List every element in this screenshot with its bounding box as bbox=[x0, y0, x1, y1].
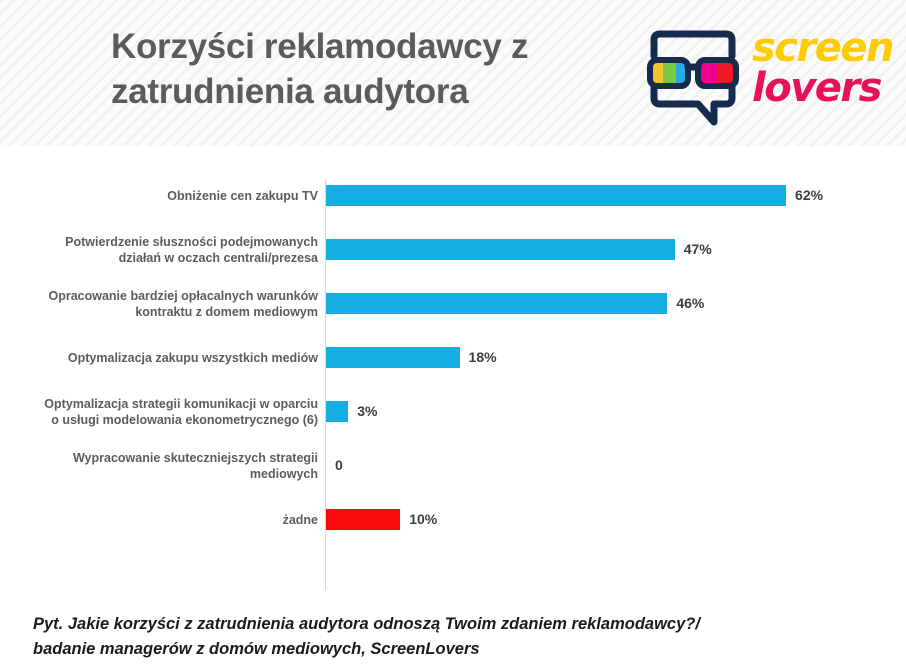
category-label: Optymalizacja zakupu wszystkich mediów bbox=[0, 350, 318, 366]
chart-row: żadne10% bbox=[0, 492, 906, 546]
bar-value-label: 18% bbox=[469, 347, 497, 368]
bar-value-label: 3% bbox=[357, 401, 377, 422]
plot-area: Obniżenie cen zakupu TV62%Potwierdzenie … bbox=[0, 146, 906, 601]
bar-value-label: 0 bbox=[335, 455, 343, 476]
logo-word-screen: screen bbox=[752, 28, 893, 68]
category-label: żadne bbox=[0, 512, 318, 528]
chart-row: Obniżenie cen zakupu TV62% bbox=[0, 168, 906, 222]
bar-value-label: 46% bbox=[676, 293, 704, 314]
header-band: Korzyści reklamodawcy z zatrudnienia aud… bbox=[0, 0, 906, 146]
bar[interactable] bbox=[326, 347, 460, 368]
page-title: Korzyści reklamodawcy z zatrudnienia aud… bbox=[111, 25, 636, 115]
source-note: Pyt. Jakie korzyści z zatrudnienia audyt… bbox=[33, 612, 883, 662]
category-label: Potwierdzenie słuszności podejmowanych d… bbox=[0, 234, 318, 266]
bar-wrapper bbox=[326, 330, 460, 384]
chart-row: Optymalizacja strategii komunikacji w op… bbox=[0, 384, 906, 438]
glasses-speech-bubble-icon bbox=[640, 26, 748, 131]
chart-row: Optymalizacja zakupu wszystkich mediów18… bbox=[0, 330, 906, 384]
bar[interactable] bbox=[326, 401, 348, 422]
chart-row: Wypracowanie skuteczniejszych strategii … bbox=[0, 438, 906, 492]
bar-wrapper bbox=[326, 492, 400, 546]
bar-value-label: 62% bbox=[795, 185, 823, 206]
chart-row: Potwierdzenie słuszności podejmowanych d… bbox=[0, 222, 906, 276]
category-label: Obniżenie cen zakupu TV bbox=[0, 188, 318, 204]
bar-chart: Obniżenie cen zakupu TV62%Potwierdzenie … bbox=[0, 146, 906, 601]
bar-wrapper bbox=[326, 276, 667, 330]
bar-value-label: 47% bbox=[684, 239, 712, 260]
bar-wrapper bbox=[326, 438, 327, 492]
bar-value-label: 10% bbox=[409, 509, 437, 530]
bar-wrapper bbox=[326, 222, 675, 276]
category-label: Wypracowanie skuteczniejszych strategii … bbox=[0, 450, 318, 482]
bar[interactable] bbox=[326, 239, 675, 260]
bar[interactable] bbox=[326, 509, 400, 530]
chart-row: Opracowanie bardziej opłacalnych warunkó… bbox=[0, 276, 906, 330]
logo-word-lovers: lovers bbox=[752, 68, 881, 108]
category-label: Opracowanie bardziej opłacalnych warunkó… bbox=[0, 288, 318, 320]
bar[interactable] bbox=[326, 185, 786, 206]
bar-wrapper bbox=[326, 168, 786, 222]
category-label: Optymalizacja strategii komunikacji w op… bbox=[0, 396, 318, 428]
bar[interactable] bbox=[326, 293, 667, 314]
screenlovers-logo: screen lovers bbox=[640, 22, 898, 130]
bar-wrapper bbox=[326, 384, 348, 438]
